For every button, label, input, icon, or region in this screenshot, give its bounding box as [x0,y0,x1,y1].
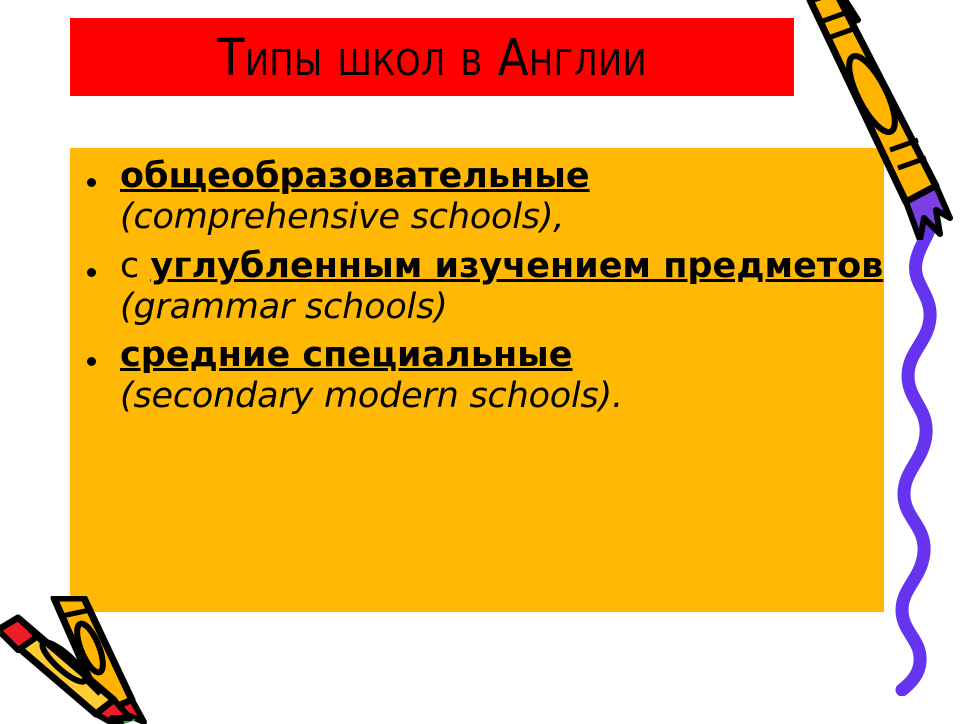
crayon-back [54,598,144,724]
bullet-emphasis-text: общеобразовательные [120,156,590,196]
list-item: с углубленным изучением предметов (gramm… [70,246,884,329]
bullet-dot-icon [87,268,96,277]
list-item-text: общеобразовательные(comprehensive school… [120,156,884,239]
bullet-english-term: (grammar schools) [120,287,448,327]
bullet-dot-icon [87,178,96,187]
crayon-front [0,618,130,724]
crayons-bottom-left-decoration [0,596,222,724]
title-banner: Типы школ в Англии [70,18,794,96]
bullet-emphasis-text: средние специальные [120,335,573,375]
content-box: общеобразовательные(comprehensive school… [70,148,884,612]
list-item-text: с углубленным изучением предметов (gramm… [120,246,884,329]
bullet-list: общеобразовательные(comprehensive school… [70,156,884,425]
bullet-emphasis-text: углубленным изучением предметов [150,246,883,286]
bullet-dot-icon [87,357,96,366]
bullet-english-term: (comprehensive schools), [120,197,564,237]
bullet-english-term: (secondary modern schools). [120,376,623,416]
list-item: общеобразовательные(comprehensive school… [70,156,884,239]
bullet-leading-text: с [120,246,150,286]
page-title: Типы школ в Англии [70,13,794,100]
slide-canvas: Типы школ в Англии общеобразовательные(c… [0,0,960,720]
purple-squiggle-decoration [876,196,960,696]
list-item: средние специальные(secondary modern sch… [70,335,884,418]
list-item-text: средние специальные(secondary modern sch… [120,335,884,418]
